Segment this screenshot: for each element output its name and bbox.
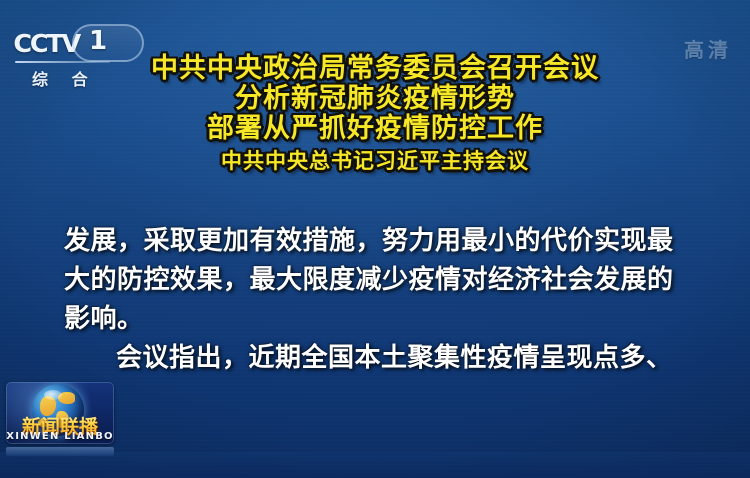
headline-subline: 中共中央总书记习近平主持会议 [0, 150, 750, 174]
caption-line-4: 会议指出，近期全国本土聚集性疫情呈现点多、 [64, 339, 690, 378]
headline-line-2: 分析新冠肺炎疫情形势 [0, 84, 750, 114]
cctv-channel-sublabel: 综 合 [32, 66, 97, 90]
cctv-logo-row: CCTV 1 [14, 28, 144, 58]
broadcast-screen: CCTV 1 综 合 高清 中共中央政治局常务委员会召开会议 分析新冠肺炎疫情形… [0, 0, 750, 478]
cctv-logo-underline [15, 61, 110, 63]
cctv-wordmark: CCTV [13, 31, 79, 56]
cctv-channel-logo: CCTV 1 综 合 [14, 28, 144, 86]
caption-line-1: 发展，采取更加有效措施，努力用最小的代价实现最 [64, 222, 690, 261]
program-name-en: XINWEN LIANBO [6, 431, 114, 442]
caption-line-2: 大的防控效果，最大限度减少疫情对经济社会发展的 [64, 261, 690, 300]
cctv-channel-pill [72, 24, 144, 62]
headline-line-3: 部署从严抓好疫情防控工作 [0, 114, 750, 144]
caption-block: 发展，采取更加有效措施，努力用最小的代价实现最 大的防控效果，最大限度减少疫情对… [64, 222, 690, 378]
program-bug-underbar [6, 447, 114, 456]
xinwen-lianbo-bug: 新闻联播 XINWEN LIANBO [6, 382, 114, 444]
globe-highlight [44, 390, 62, 400]
caption-line-3: 影响。 [64, 300, 690, 339]
cctv-channel-number: 1 [89, 28, 107, 54]
hd-watermark: 高清 [684, 34, 732, 63]
